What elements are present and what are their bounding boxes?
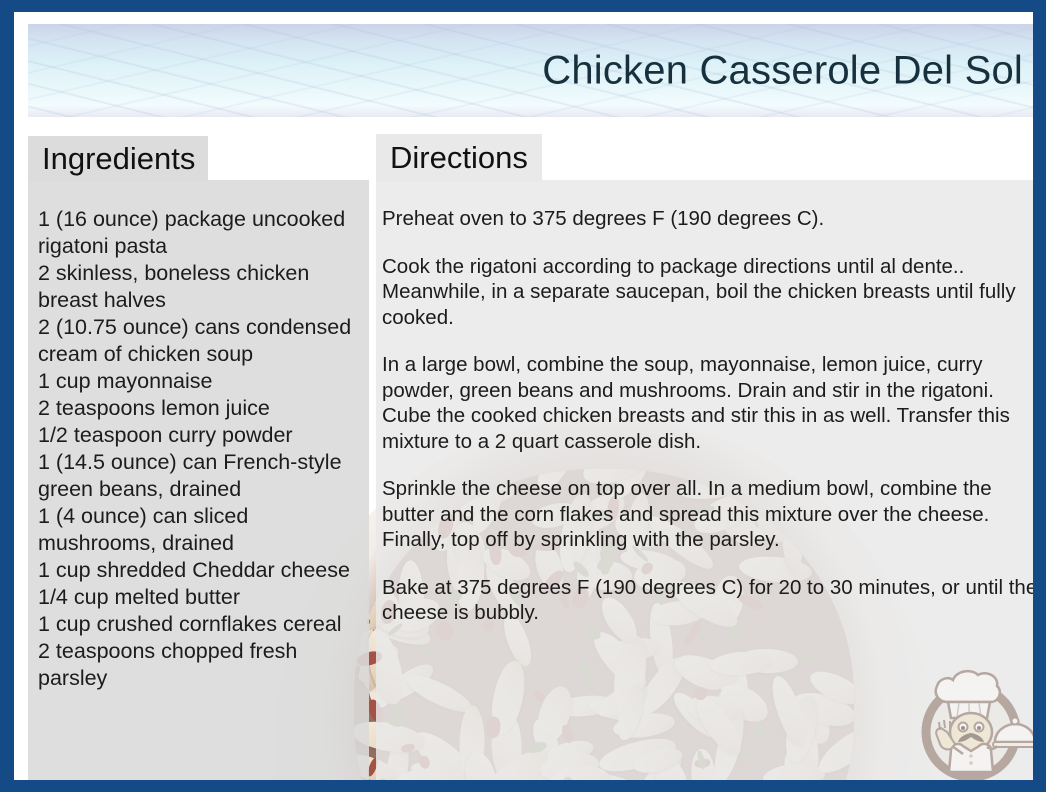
direction-step: Preheat oven to 375 degrees F (190 degre… xyxy=(382,206,1033,232)
directions-heading: Directions xyxy=(376,140,528,176)
ingredient-item: 2 teaspoons chopped fresh parsley xyxy=(38,638,360,692)
directions-header-tab: Directions xyxy=(376,134,542,182)
ingredient-item: 1 (4 ounce) can sliced mushrooms, draine… xyxy=(38,503,360,557)
ingredient-item: 1 (14.5 ounce) can French-style green be… xyxy=(38,449,360,503)
chef-mascot-logo xyxy=(907,654,1033,780)
recipe-card: 1 (16 ounce) package uncooked rigatoni p… xyxy=(0,0,1046,792)
ingredient-item: 1/4 cup melted butter xyxy=(38,584,360,611)
chef-icon xyxy=(907,654,1033,780)
recipe-title: Chicken Casserole Del Sol xyxy=(542,48,1023,93)
ingredient-item: 1 cup mayonnaise xyxy=(38,368,360,395)
direction-step: Bake at 375 degrees F (190 degrees C) fo… xyxy=(382,575,1033,626)
ingredient-item: 1 (16 ounce) package uncooked rigatoni p… xyxy=(38,206,360,260)
ingredient-item: 1/2 teaspoon curry powder xyxy=(38,422,360,449)
ingredient-item: 1 cup shredded Cheddar cheese xyxy=(38,557,360,584)
ingredient-item: 2 teaspoons lemon juice xyxy=(38,395,360,422)
ingredient-item: 2 skinless, boneless chicken breast halv… xyxy=(38,260,360,314)
title-banner: Chicken Casserole Del Sol xyxy=(28,24,1033,117)
card-inner-surface: 1 (16 ounce) package uncooked rigatoni p… xyxy=(14,12,1033,780)
direction-step: Cook the rigatoni according to package d… xyxy=(382,254,1033,331)
direction-step: In a large bowl, combine the soup, mayon… xyxy=(382,352,1033,454)
ingredients-list: 1 (16 ounce) package uncooked rigatoni p… xyxy=(38,206,360,692)
ingredient-item: 1 cup crushed cornflakes cereal xyxy=(38,611,360,638)
ingredients-header-tab: Ingredients xyxy=(28,136,208,182)
ingredient-item: 2 (10.75 ounce) cans condensed cream of … xyxy=(38,314,360,368)
ingredients-heading: Ingredients xyxy=(28,141,195,177)
direction-step: Sprinkle the cheese on top over all. In … xyxy=(382,476,1033,553)
directions-list: Preheat oven to 375 degrees F (190 degre… xyxy=(382,206,1033,626)
